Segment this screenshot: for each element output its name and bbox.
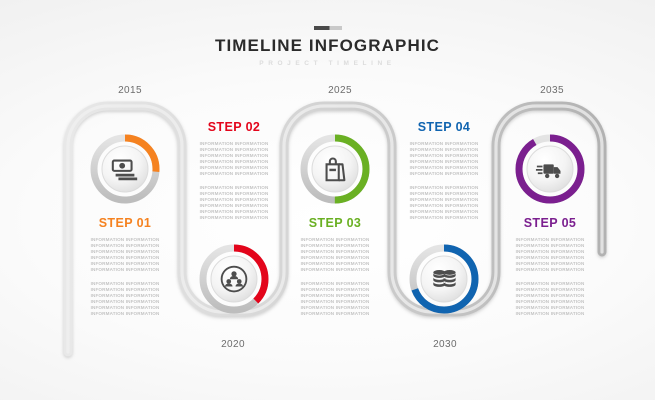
text-block-step-03: STEP 03 INFORMATION INFORMATION INFORMAT… bbox=[279, 216, 391, 317]
year-label-2020: 2020 bbox=[198, 339, 268, 350]
year-label-2035: 2035 bbox=[517, 85, 587, 96]
step-02-paragraph-2: INFORMATION INFORMATION INFORMATION INFO… bbox=[178, 185, 290, 221]
step-label-04: STEP 04 bbox=[388, 120, 500, 134]
text-block-step-02: STEP 02 INFORMATION INFORMATION INFORMAT… bbox=[178, 120, 290, 221]
step-05-paragraph-2: INFORMATION INFORMATION INFORMATION INFO… bbox=[494, 281, 606, 317]
step-03-paragraph-1: INFORMATION INFORMATION INFORMATION INFO… bbox=[279, 237, 391, 273]
step-label-02: STEP 02 bbox=[178, 120, 290, 134]
text-block-step-04: STEP 04 INFORMATION INFORMATION INFORMAT… bbox=[388, 120, 500, 221]
year-label-2030: 2030 bbox=[410, 339, 480, 350]
text-block-step-05: STEP 05 INFORMATION INFORMATION INFORMAT… bbox=[494, 216, 606, 317]
step-label-05: STEP 05 bbox=[494, 216, 606, 230]
node-step-03[interactable] bbox=[297, 131, 373, 207]
year-label-2025: 2025 bbox=[305, 85, 375, 96]
step-04-paragraph-2: INFORMATION INFORMATION INFORMATION INFO… bbox=[388, 185, 500, 221]
step-label-01: STEP 01 bbox=[69, 216, 181, 230]
node-step-01[interactable] bbox=[87, 131, 163, 207]
node-step-05[interactable] bbox=[512, 131, 588, 207]
text-block-step-01: STEP 01 INFORMATION INFORMATION INFORMAT… bbox=[69, 216, 181, 317]
step-label-03: STEP 03 bbox=[279, 216, 391, 230]
step-04-paragraph-1: INFORMATION INFORMATION INFORMATION INFO… bbox=[388, 141, 500, 177]
step-01-paragraph-2: INFORMATION INFORMATION INFORMATION INFO… bbox=[69, 281, 181, 317]
node-step-04[interactable] bbox=[406, 241, 482, 317]
step-03-paragraph-2: INFORMATION INFORMATION INFORMATION INFO… bbox=[279, 281, 391, 317]
infographic-canvas: TIMELINE INFOGRAPHIC PROJECT TIMELINE bbox=[0, 0, 655, 400]
year-label-2015: 2015 bbox=[95, 85, 165, 96]
node-step-02[interactable] bbox=[196, 241, 272, 317]
step-02-paragraph-1: INFORMATION INFORMATION INFORMATION INFO… bbox=[178, 141, 290, 177]
step-05-paragraph-1: INFORMATION INFORMATION INFORMATION INFO… bbox=[494, 237, 606, 273]
step-01-paragraph-1: INFORMATION INFORMATION INFORMATION INFO… bbox=[69, 237, 181, 273]
